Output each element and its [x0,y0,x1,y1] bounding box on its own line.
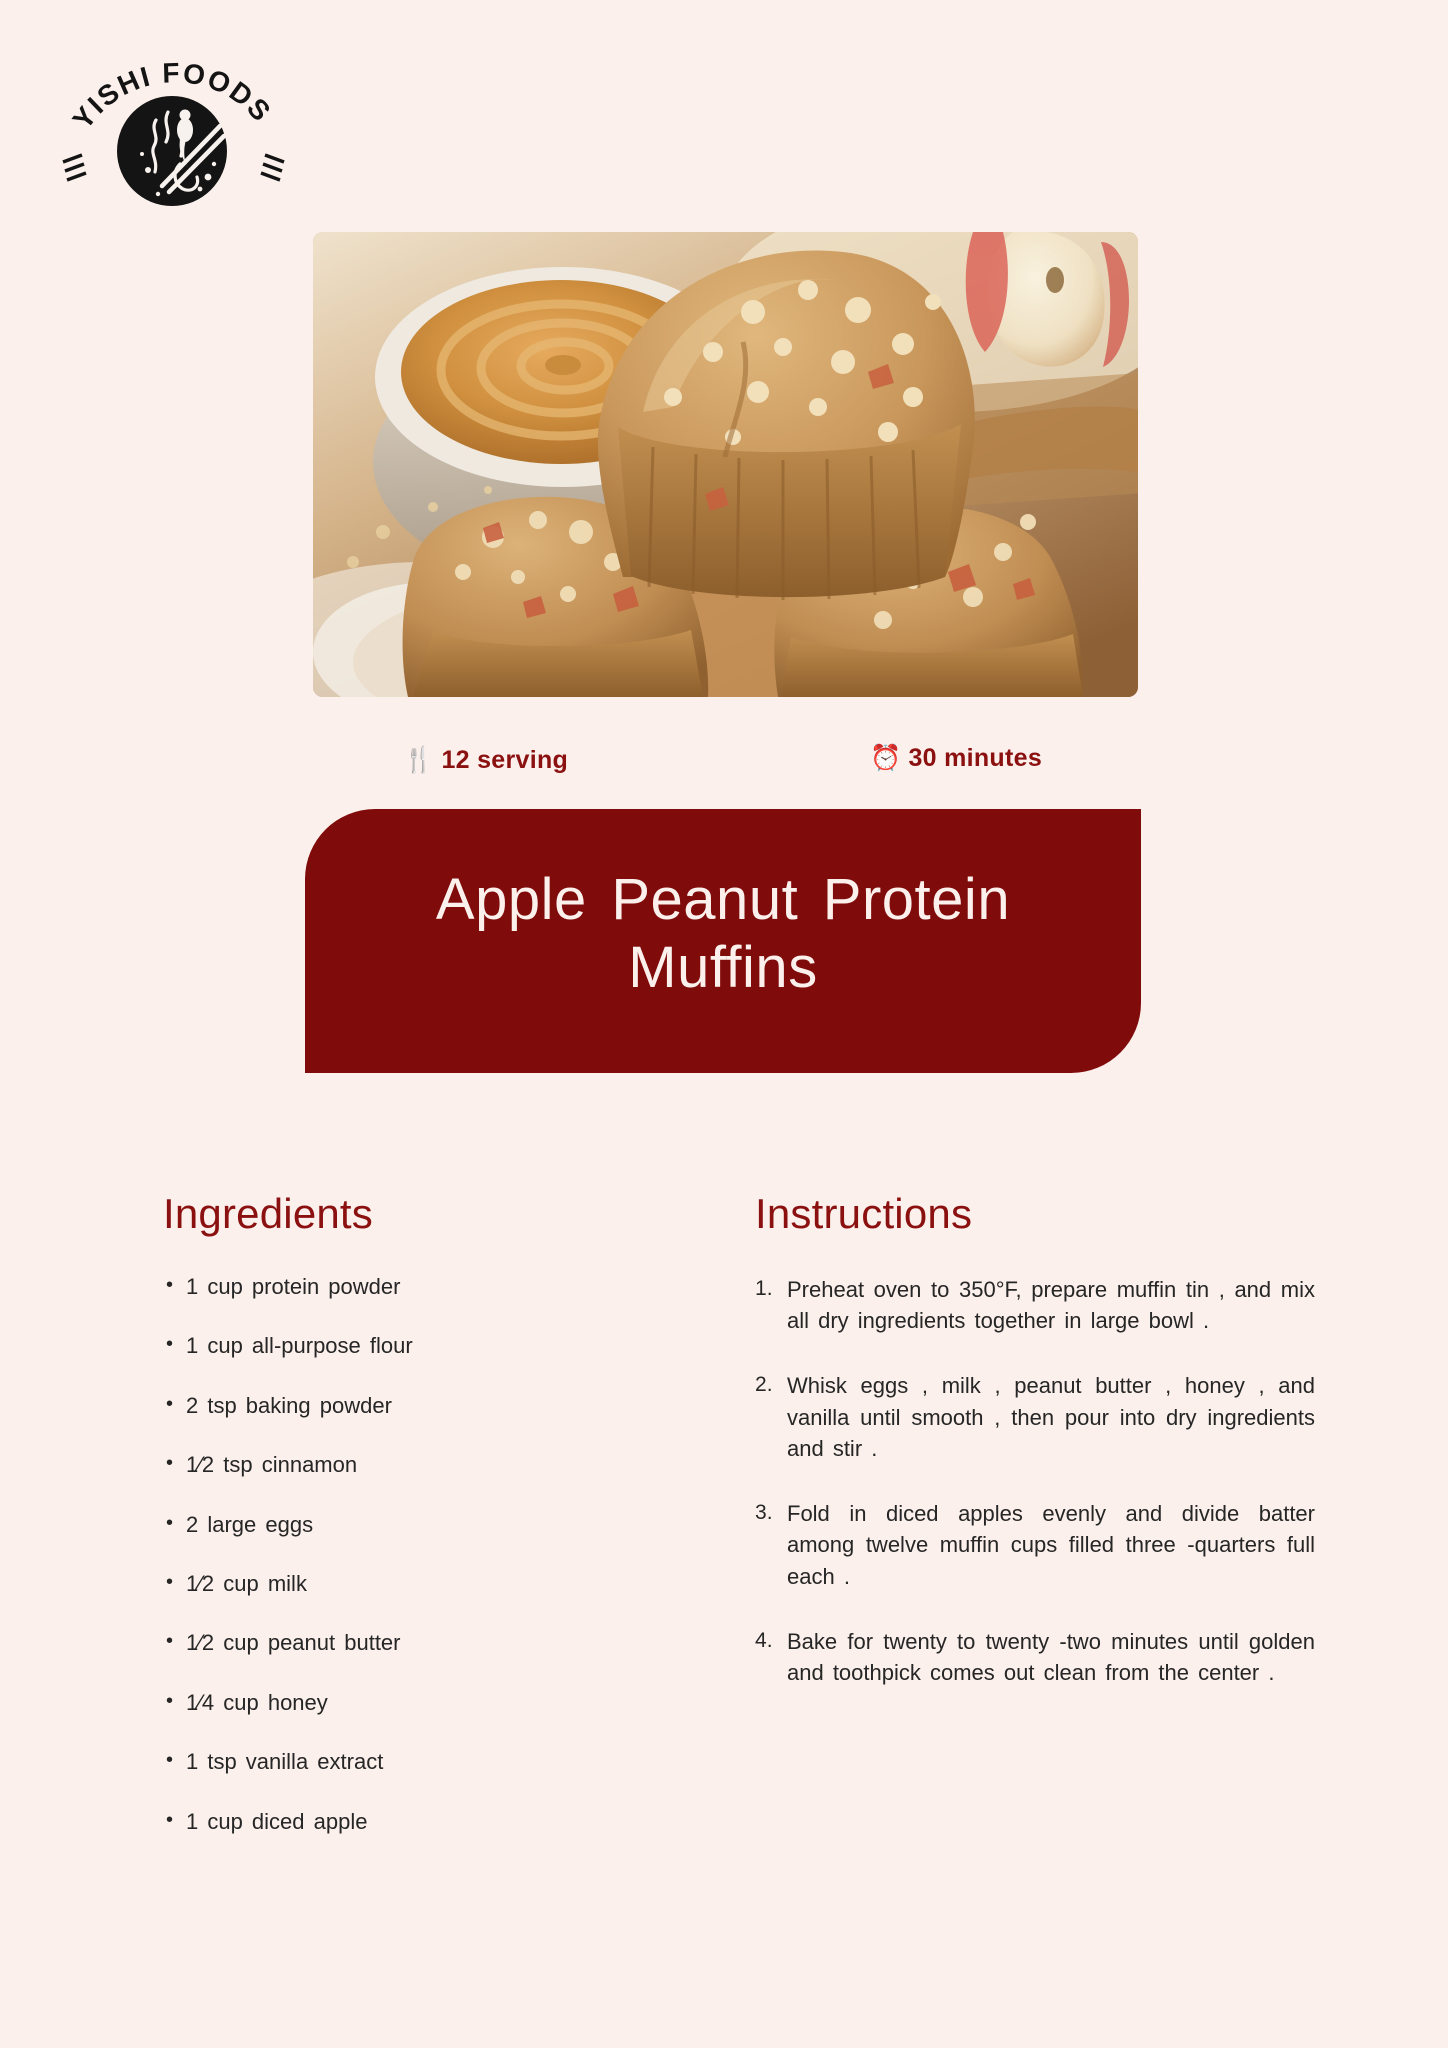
alarm-clock-icon: ⏰ [870,746,901,771]
list-item: Preheat oven to 350°F, prepare muffin ti… [755,1274,1315,1336]
ingredients-column: Ingredients 1 cup protein powder 1 cup a… [158,1190,648,1868]
fork-knife-icon: 🍴 [403,748,434,773]
instructions-column: Instructions Preheat oven to 350°F, prep… [755,1190,1315,1722]
list-item: 1 cup all-purpose flour [158,1333,648,1359]
list-item: 1 cup protein powder [158,1274,648,1300]
time-meta: ⏰ 30 minutes [870,744,1042,773]
list-item: 2 tsp baking powder [158,1393,648,1419]
page-title: Apple Peanut Protein Muffins [323,866,1123,1017]
time-label: 30 minutes [908,744,1042,773]
list-item: 1 tsp vanilla extract [158,1749,648,1775]
muffins-photo [313,232,1138,697]
list-item: 1⁄2 cup peanut butter [158,1630,648,1656]
recipe-hero-image [313,232,1138,697]
list-item: 2 large eggs [158,1512,648,1538]
list-item: Fold in diced apples evenly and divide b… [755,1498,1315,1592]
servings-meta: 🍴 12 serving [403,746,568,775]
servings-label: 12 serving [441,746,568,775]
list-item: Whisk eggs , milk , peanut butter , hone… [755,1370,1315,1464]
list-item: 1 cup diced apple [158,1809,648,1835]
recipe-meta-row: 🍴 12 serving ⏰ 30 minutes [313,740,1138,790]
list-item: 1⁄2 cup milk [158,1571,648,1597]
list-item: Bake for twenty to twenty -two minutes u… [755,1626,1315,1688]
ingredients-list: 1 cup protein powder 1 cup all-purpose f… [158,1274,648,1835]
list-item: 1⁄4 cup honey [158,1690,648,1716]
recipe-title-banner: Apple Peanut Protein Muffins [305,809,1141,1073]
bowl-chopsticks-badge-icon: YISHI FOODS [52,34,296,214]
ingredients-heading: Ingredients [163,1190,648,1238]
list-item: 1⁄2 tsp cinnamon [158,1452,648,1478]
instructions-heading: Instructions [755,1190,1315,1238]
brand-logo: YISHI FOODS [52,34,296,214]
instructions-list: Preheat oven to 350°F, prepare muffin ti… [755,1274,1315,1688]
